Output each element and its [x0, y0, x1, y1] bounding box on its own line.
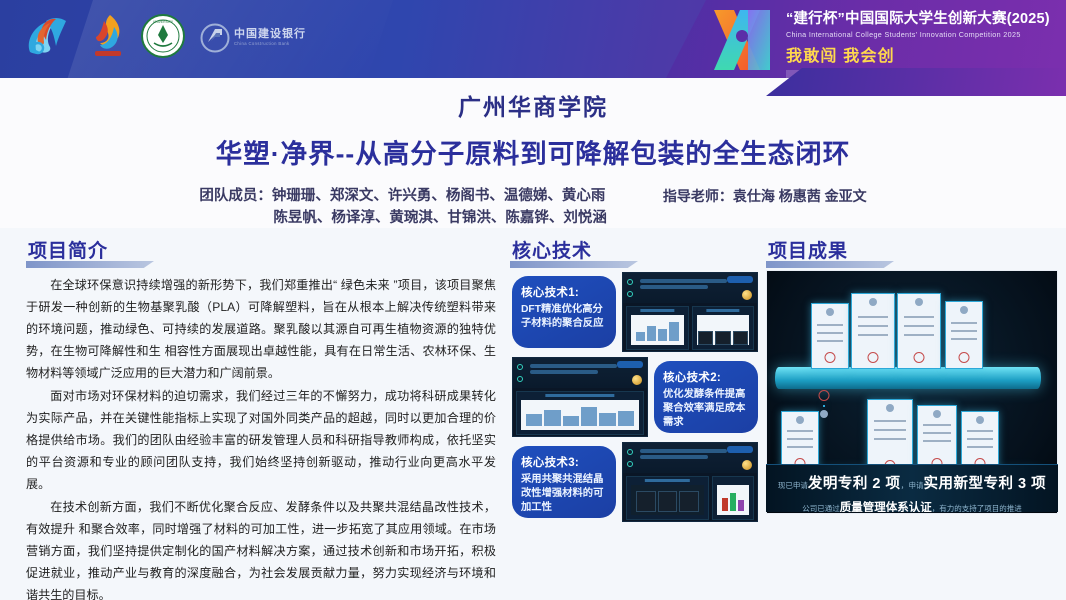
tech-screenshot-3 — [622, 442, 758, 522]
poster-canvas: UNIVERSITY 中国建设银行 China Construction Ban… — [0, 0, 1066, 600]
section-heading-intro: 项目简介 — [28, 236, 108, 263]
competition-x-logo — [708, 6, 786, 74]
section-heading-result: 项目成果 — [768, 236, 848, 263]
heading-underline-bar — [766, 261, 894, 268]
core-tech-item: 核心技术1: DFT精准优化高分子材料的聚合反应 — [512, 272, 758, 354]
quality-certification: 质量管理体系认证 — [840, 502, 932, 512]
project-title: 华塑·净界--从高分子原料到可降解包装的全生态闭环 — [0, 132, 1066, 171]
core-tech-item: 核心技术2: 优化发酵条件提高聚合效率满足成本需求 — [512, 357, 758, 439]
section-heading-result-label: 项目成果 — [768, 241, 848, 262]
patent-utility-count: 实用新型专利 3 项 — [924, 476, 1047, 492]
core-tech-2-desc: 优化发酵条件提高聚合效率满足成本需求 — [663, 388, 751, 430]
intro-paragraph-2: 面对市场对环保材料的迫切需求，我们经过三年的不懈努力，成功将科研成果转化为实际产… — [26, 385, 496, 495]
certificate-item — [823, 405, 825, 407]
svg-text:UNIVERSITY: UNIVERSITY — [153, 20, 174, 24]
poster-header: UNIVERSITY 中国建设银行 China Construction Ban… — [0, 0, 1066, 78]
team-members-label: 团队成员： — [199, 188, 272, 204]
heading-underline-bar — [510, 261, 638, 268]
team-members-names-2: 陈昱帆、杨译淳、黄琬淇、甘锦洪、陈嘉铧、刘悦涵 — [199, 207, 607, 229]
core-tech-1-pill: 核心技术1: DFT精准优化高分子材料的聚合反应 — [512, 276, 616, 348]
competition-text: “建行杯”中国国际大学生创新大赛(2025) China Internation… — [786, 7, 1060, 78]
core-tech-2-title: 核心技术2: — [663, 369, 751, 385]
quality-post: ，有力的支持了项目的推进 — [932, 504, 1022, 512]
team-members-names-1: 钟珊珊、郑深文、许兴勇、杨阁书、温德娣、黄心雨 — [272, 188, 606, 204]
gzhsc-wave-logo — [22, 12, 76, 65]
core-tech-2-pill: 核心技术2: 优化发酵条件提高聚合效率满足成本需求 — [654, 361, 758, 433]
certificate-item — [945, 301, 983, 369]
patent-banner-line1: 现已申请发明专利 2 项，申请实用新型专利 3 项 — [766, 472, 1058, 493]
tech-screenshot-1 — [622, 272, 758, 352]
title-zone: 广州华商学院 华塑·净界--从高分子原料到可降解包装的全生态闭环 团队成员：钟珊… — [0, 78, 1066, 228]
university-seal-logo: UNIVERSITY — [140, 13, 186, 64]
quality-pre: 公司已通过 — [802, 504, 840, 512]
intro-paragraph-3: 在技术创新方面，我们不断优化聚合反应、发酵条件以及共聚共混结晶改性技术，有效提升… — [26, 496, 496, 600]
competition-title-cn: “建行杯”中国国际大学生创新大赛(2025) — [786, 7, 1060, 28]
patent-banner-line2: 公司已通过质量管理体系认证，有力的支持了项目的推进 — [766, 498, 1058, 512]
flame-logo — [90, 13, 126, 64]
patent-separator: ， — [901, 481, 909, 490]
ccb-bank-logo: 中国建设银行 China Construction Bank — [200, 23, 306, 53]
patent-invention-count: 发明专利 2 项 — [808, 476, 901, 492]
core-tech-3-title: 核心技术3: — [521, 454, 609, 470]
certificate-shelf-top — [775, 367, 1041, 389]
school-name: 广州华商学院 — [0, 78, 1066, 122]
people-row: 团队成员：钟珊珊、郑深文、许兴勇、杨阁书、温德娣、黄心雨 陈昱帆、杨译淳、黄琬淇… — [0, 185, 1066, 230]
patent-pre-2: 申请 — [909, 481, 924, 490]
certificate-item — [851, 293, 895, 369]
section-heading-tech-label: 核心技术 — [512, 241, 592, 262]
heading-underline-bar — [26, 261, 154, 268]
intro-body: 在全球环保意识持续增强的新形势下，我们郑重推出“ 绿色未来 ”项目，该项目聚焦于… — [26, 274, 496, 600]
core-tech-column: 核心技术1: DFT精准优化高分子材料的聚合反应 核心技术2: 优化发酵条件提高… — [512, 272, 758, 527]
section-heading-tech: 核心技术 — [512, 236, 592, 263]
team-members-line1: 团队成员：钟珊珊、郑深文、许兴勇、杨阁书、温德娣、黄心雨 — [199, 185, 607, 207]
competition-banner: “建行杯”中国国际大学生创新大赛(2025) China Internation… — [666, 0, 1066, 78]
section-heading-intro-label: 项目简介 — [28, 241, 108, 262]
advisors: 指导老师：袁仕海 杨惠茜 金亚文 — [663, 185, 867, 230]
competition-slogan: 我敢闯 我会创 — [786, 42, 1060, 66]
patent-banner: 现已申请发明专利 2 项，申请实用新型专利 3 项 公司已通过质量管理体系认证，… — [766, 464, 1058, 512]
patent-pre-1: 现已申请 — [778, 481, 808, 490]
bank-name-cn: 中国建设银行 — [234, 29, 306, 40]
intro-paragraph-1: 在全球环保意识持续增强的新形势下，我们郑重推出“ 绿色未来 ”项目，该项目聚焦于… — [26, 274, 496, 384]
core-tech-1-desc: DFT精准优化高分子材料的聚合反应 — [521, 303, 609, 331]
core-tech-3-desc: 采用共聚共混结晶改性增强材料的可加工性 — [521, 473, 609, 515]
logo-row: UNIVERSITY 中国建设银行 China Construction Ban… — [22, 8, 306, 68]
competition-title-en: China International College Students' In… — [786, 30, 1060, 39]
core-tech-item: 核心技术3: 采用共聚共混结晶改性增强材料的可加工性 — [512, 442, 758, 524]
team-members-block: 团队成员：钟珊珊、郑深文、许兴勇、杨阁书、温德娣、黄心雨 陈昱帆、杨译淳、黄琬淇… — [199, 185, 607, 230]
bank-name-en: China Construction Bank — [234, 42, 306, 46]
core-tech-1-title: 核心技术1: — [521, 284, 609, 300]
tech-screenshot-2 — [512, 357, 648, 437]
certificate-item — [811, 303, 849, 369]
core-tech-3-pill: 核心技术3: 采用共聚共混结晶改性增强材料的可加工性 — [512, 446, 616, 518]
certificate-item — [897, 293, 941, 369]
